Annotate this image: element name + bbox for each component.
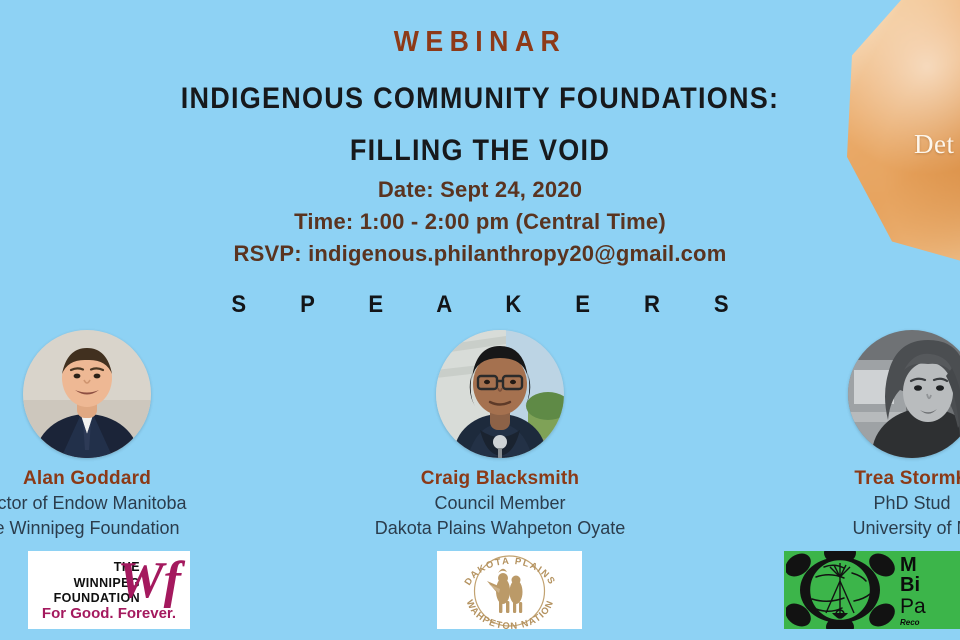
wf-monogram-icon: Wf bbox=[117, 555, 181, 607]
mbp-line-1: M bbox=[900, 555, 960, 575]
dakota-plains-seal-icon: DAKOTA PLAINS WAHPETON NATION bbox=[437, 551, 582, 629]
speaker-role-line-1: Council Member bbox=[340, 492, 660, 515]
turtle-medicine-wheel-icon bbox=[786, 551, 898, 629]
speaker-name: Trea StormK bbox=[752, 468, 960, 490]
mbp-line-3: Pa bbox=[900, 596, 960, 617]
speaker-card-3: Trea StormK PhD Stud University of M bbox=[752, 330, 960, 540]
wf-tagline: For Good. Forever. bbox=[28, 605, 190, 622]
logo-manitoba-green: M Bi Pa Reco bbox=[784, 551, 960, 629]
kicker-webinar: WEBINAR bbox=[38, 26, 921, 59]
page-title-line-2: FILLING THE VOID bbox=[48, 134, 912, 168]
event-date: Date: Sept 24, 2020 bbox=[0, 177, 960, 203]
speaker-role-line-1: ector of Endow Manitoba bbox=[0, 492, 247, 515]
mbp-line-2: Bi bbox=[900, 575, 960, 595]
headshot-craig-blacksmith bbox=[436, 330, 564, 458]
logo-dakota-plains-wahpeton-nation: DAKOTA PLAINS WAHPETON NATION bbox=[437, 551, 582, 629]
seal-arc-bottom: WAHPETON NATION bbox=[465, 598, 556, 629]
speaker-role-line-2: University of M bbox=[752, 517, 960, 540]
speaker-role-line-2: e Winnipeg Foundation bbox=[0, 517, 247, 540]
speaker-role-line-1: PhD Stud bbox=[752, 492, 960, 515]
speakers-heading: S P E A K E R S bbox=[38, 291, 921, 319]
headshot-alan-goddard bbox=[23, 330, 151, 458]
event-rsvp-email: RSVP: indigenous.philanthropy20@gmail.co… bbox=[0, 241, 960, 267]
speaker-name: Craig Blacksmith bbox=[340, 468, 660, 490]
speaker-name: Alan Goddard bbox=[0, 468, 247, 490]
bannock-label: Det bbox=[914, 129, 954, 160]
page-title-line-1: INDIGENOUS COMMUNITY FOUNDATIONS: bbox=[48, 82, 912, 116]
headshot-trea-stormk bbox=[848, 330, 960, 458]
manitoba-green-wordmark: M Bi Pa Reco bbox=[900, 555, 960, 627]
speaker-card-2: Craig Blacksmith Council Member Dakota P… bbox=[340, 330, 660, 540]
svg-text:WAHPETON NATION: WAHPETON NATION bbox=[465, 598, 556, 629]
webinar-poster: Det WEBINAR INDIGENOUS COMMUNITY FOUNDAT… bbox=[0, 0, 960, 640]
event-time: Time: 1:00 - 2:00 pm (Central Time) bbox=[0, 209, 960, 235]
speaker-card-1: Alan Goddard ector of Endow Manitoba e W… bbox=[0, 330, 247, 540]
speaker-role-line-2: Dakota Plains Wahpeton Oyate bbox=[340, 517, 660, 540]
mbp-line-4: Reco bbox=[900, 619, 960, 627]
logo-winnipeg-foundation: THE WINNIPEG FOUNDATION Wf For Good. For… bbox=[28, 551, 190, 629]
